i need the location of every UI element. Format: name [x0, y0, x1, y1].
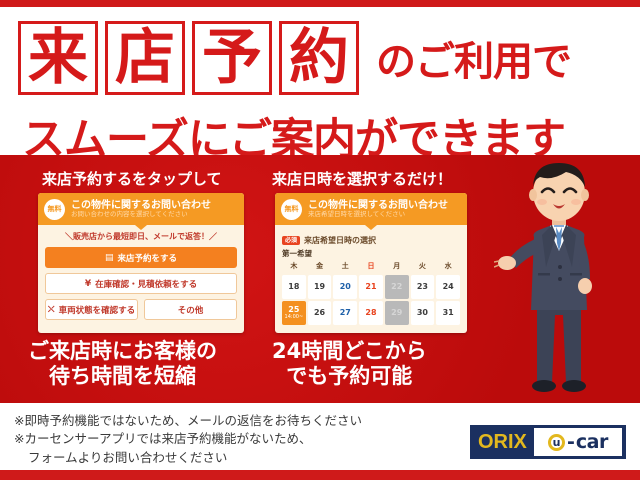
calendar-day-cell-disabled: 29	[385, 301, 409, 325]
day-number: 18	[288, 283, 299, 291]
right-mock-screen: 無料 この物件に関するお問い合わせ 来店希望日時を選択してください 必須 来店希…	[275, 193, 467, 333]
day-number: 27	[340, 309, 351, 317]
footer-notes: ※即時予約機能ではないため、メールの返信をお待ちください ※カーセンサーアプリで…	[14, 412, 362, 467]
orix-ucar-logo: ORIX u - car	[470, 425, 626, 459]
day-number: 19	[314, 283, 325, 291]
day-number: 24	[443, 283, 454, 291]
right-benefit-text: 24時間どこから でも予約可能	[272, 339, 427, 389]
day-number: 29	[391, 309, 402, 317]
free-badge-icon: 無料	[281, 199, 302, 220]
weekday-tue: 火	[411, 261, 435, 273]
calendar-day-cell[interactable]: 18	[282, 275, 306, 299]
right-panel-caption: 来店日時を選択するだけ！	[272, 168, 452, 189]
calendar-week-2: 25 14:00~ 26 27 28 29 30 31	[282, 301, 460, 325]
required-badge: 必須	[282, 236, 300, 245]
right-benefit-line-2: でも予約可能	[272, 364, 427, 389]
weekday-thu: 木	[282, 261, 306, 273]
left-mock-header: 無料 この物件に関するお問い合わせ お問い合わせの内容を選択してください	[38, 193, 244, 225]
calendar-field-label: 必須 来店希望日時の選択	[282, 235, 460, 246]
left-benefit-text: ご来店時にお客様の 待ち時間を短縮	[28, 339, 217, 389]
day-number: 23	[417, 283, 428, 291]
calendar-day-cell[interactable]: 27	[333, 301, 357, 325]
reserve-visit-button[interactable]: ▤ 来店予約をする	[45, 247, 237, 268]
vehicle-condition-button[interactable]: ⛌ 車両状態を確認する	[45, 299, 138, 320]
right-mock-header: 無料 この物件に関するお問い合わせ 来店希望日時を選択してください	[275, 193, 467, 225]
day-number: 28	[365, 309, 376, 317]
calendar-widget: 必須 来店希望日時の選択 第一希望 木 金 土 日 月 火 水 18 19 20…	[275, 230, 467, 325]
day-number: 31	[443, 309, 454, 317]
calendar-day-cell[interactable]: 24	[436, 275, 460, 299]
calendar-day-cell-selected[interactable]: 25 14:00~	[282, 301, 306, 325]
day-number: 20	[340, 283, 351, 291]
notch-icon	[135, 225, 147, 230]
salesman-figure-icon	[494, 155, 624, 403]
secondary-button-row: ⛌ 車両状態を確認する その他	[45, 299, 237, 320]
left-mock-screen: 無料 この物件に関するお問い合わせ お問い合わせの内容を選択してください ＼販売…	[38, 193, 244, 333]
salesman-illustration	[494, 155, 624, 403]
stock-quote-label: 在庫確認・見積依頼をする	[95, 278, 197, 290]
kanji-box-3: 予	[192, 21, 272, 95]
weekday-sat: 土	[333, 261, 357, 273]
stock-quote-button[interactable]: ¥ 在庫確認・見積依頼をする	[45, 273, 237, 294]
yen-icon: ¥	[85, 279, 91, 289]
day-number: 22	[391, 283, 402, 291]
other-label: その他	[178, 304, 204, 316]
weekday-mon: 月	[385, 261, 409, 273]
calendar-day-cell[interactable]: 21	[359, 275, 383, 299]
left-mock-header-subtitle: お問い合わせの内容を選択してください	[71, 211, 211, 218]
footer-note-1: ※即時予約機能ではないため、メールの返信をお待ちください	[14, 412, 362, 430]
right-benefit-line-1: 24時間どこから	[272, 339, 427, 364]
headline-section: 来 店 予 約 のご利用で スムーズにご案内ができます	[0, 7, 640, 155]
left-mock-note: ＼販売店から最短即日、メールで返答！／	[38, 231, 244, 242]
store-icon: ▤	[105, 253, 114, 263]
weekday-wed: 水	[436, 261, 460, 273]
other-button[interactable]: その他	[144, 299, 237, 320]
right-mock-header-subtitle: 来店希望日時を選択してください	[308, 211, 448, 218]
footer-note-3: フォームよりお問い合わせください	[14, 449, 362, 467]
kanji-box-4: 約	[279, 21, 359, 95]
calendar-day-cell[interactable]: 30	[411, 301, 435, 325]
orix-wordmark: ORIX	[471, 431, 534, 454]
left-benefit-line-1: ご来店時にお客様の	[28, 339, 217, 364]
calendar-day-cell[interactable]: 28	[359, 301, 383, 325]
car-wordmark: car	[576, 431, 608, 453]
vehicle-condition-label: 車両状態を確認する	[59, 304, 136, 316]
kanji-box-2: 店	[105, 21, 185, 95]
ucar-wordmark: u - car	[534, 428, 622, 456]
day-time-slot: 14:00~	[285, 315, 304, 320]
footer-note-2: ※カーセンサーアプリでは来店予約機能がないため、	[14, 430, 362, 448]
top-rule	[0, 0, 640, 7]
calendar-weekday-header: 木 金 土 日 月 火 水	[282, 261, 460, 273]
calendar-label-text: 来店希望日時の選択	[304, 235, 376, 246]
calendar-day-cell[interactable]: 23	[411, 275, 435, 299]
weekday-fri: 金	[308, 261, 332, 273]
left-panel-caption: 来店予約するをタップして	[42, 168, 222, 189]
free-badge-icon: 無料	[44, 199, 65, 220]
reserve-visit-label: 来店予約をする	[118, 252, 178, 264]
headline-tail: のご利用で	[376, 29, 571, 87]
preference-label: 第一希望	[282, 248, 460, 259]
kanji-box-1: 来	[18, 21, 98, 95]
left-benefit-line-2: 待ち時間を短縮	[28, 364, 217, 389]
u-circle-icon: u	[548, 434, 565, 451]
weekday-sun: 日	[359, 261, 383, 273]
calendar-day-cell-disabled: 22	[385, 275, 409, 299]
day-number: 26	[314, 309, 325, 317]
day-number: 21	[365, 283, 376, 291]
headline-row-1: 来 店 予 約 のご利用で	[18, 21, 571, 95]
calendar-day-cell[interactable]: 26	[308, 301, 332, 325]
calendar-week-1: 18 19 20 21 22 23 24	[282, 275, 460, 299]
day-number: 30	[417, 309, 428, 317]
calendar-day-cell[interactable]: 19	[308, 275, 332, 299]
logo-dash: -	[567, 431, 575, 453]
advertisement-banner: 来 店 予 約 のご利用で スムーズにご案内ができます 来店予約するをタップして…	[0, 0, 640, 480]
calendar-day-cell[interactable]: 20	[333, 275, 357, 299]
car-icon: ⛌	[48, 305, 55, 315]
bottom-rule	[0, 470, 640, 480]
calendar-day-cell[interactable]: 31	[436, 301, 460, 325]
